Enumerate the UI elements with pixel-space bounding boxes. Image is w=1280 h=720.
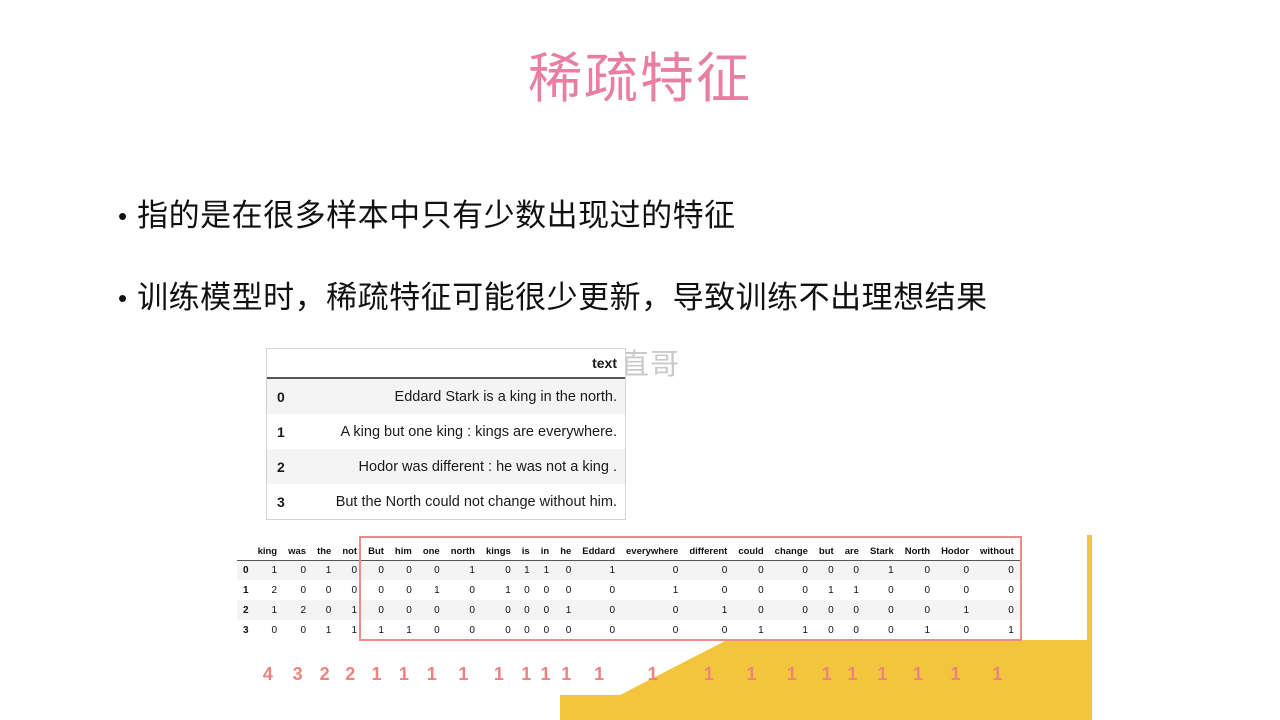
column-sum: 4 <box>253 660 284 688</box>
matrix-cell: 0 <box>536 620 555 640</box>
row-text: Eddard Stark is a king in the north. <box>299 389 625 405</box>
count-matrix-table: kingwasthenotButhimonenorthkingsisinheEd… <box>237 538 1020 640</box>
matrix-cell: 0 <box>283 580 312 600</box>
matrix-cell: 0 <box>733 580 769 600</box>
matrix-cell: 1 <box>253 600 284 620</box>
matrix-cell: 0 <box>446 600 481 620</box>
table-row: 3 But the North could not change without… <box>267 484 625 519</box>
matrix-cell: 0 <box>865 620 900 640</box>
row-text: But the North could not change without h… <box>299 494 625 510</box>
text-dataframe-header: text <box>267 349 625 379</box>
matrix-cell: 0 <box>418 600 446 620</box>
matrix-cell: 0 <box>733 560 769 580</box>
matrix-cell: 0 <box>517 620 536 640</box>
matrix-cell: 0 <box>363 600 390 620</box>
bullet-text: 训练模型时，稀疏特征可能很少更新，导致训练不出理想结果 <box>137 278 988 318</box>
matrix-cell: 0 <box>733 600 769 620</box>
matrix-cell: 0 <box>684 620 733 640</box>
page-title: 稀疏特征 <box>0 48 1280 110</box>
matrix-cell: 0 <box>536 600 555 620</box>
column-sums-table: 43221111111111111111111 <box>237 660 1020 688</box>
matrix-cell: 0 <box>975 580 1020 600</box>
matrix-cell: 1 <box>481 580 517 600</box>
row-index: 1 <box>237 580 253 600</box>
bullet-list: • 指的是在很多样本中只有少数出现过的特征 • 训练模型时，稀疏特征可能很少更新… <box>118 196 1218 360</box>
column-sum: 1 <box>555 660 577 688</box>
matrix-cell: 0 <box>390 580 418 600</box>
matrix-cell: 0 <box>312 600 337 620</box>
matrix-cell: 1 <box>770 620 814 640</box>
row-index: 0 <box>237 560 253 580</box>
matrix-cell: 0 <box>577 600 621 620</box>
matrix-cell: 0 <box>555 560 577 580</box>
matrix-cell: 0 <box>814 560 840 580</box>
column-header-one: one <box>418 538 446 560</box>
matrix-cell: 0 <box>975 560 1020 580</box>
column-header-not: not <box>337 538 363 560</box>
matrix-cell: 1 <box>684 600 733 620</box>
matrix-cell: 0 <box>312 580 337 600</box>
matrix-cell: 0 <box>481 560 517 580</box>
matrix-cell: 1 <box>253 560 284 580</box>
column-header-in: in <box>536 538 555 560</box>
matrix-cell: 0 <box>577 580 621 600</box>
matrix-cell: 2 <box>283 600 312 620</box>
row-text: A king but one king : kings are everywhe… <box>299 424 625 440</box>
matrix-cell: 1 <box>733 620 769 640</box>
column-header-is: is <box>517 538 536 560</box>
matrix-cell: 0 <box>536 580 555 600</box>
matrix-cell: 1 <box>936 600 975 620</box>
count-matrix: kingwasthenotButhimonenorthkingsisinheEd… <box>237 538 1020 640</box>
matrix-cell: 1 <box>840 580 865 600</box>
column-header-north: north <box>446 538 481 560</box>
column-sum: 1 <box>936 660 975 688</box>
row-index: 0 <box>267 389 299 405</box>
matrix-cell: 0 <box>865 580 900 600</box>
column-sum: 1 <box>684 660 733 688</box>
column-sum: 1 <box>770 660 814 688</box>
matrix-cell: 0 <box>621 560 684 580</box>
matrix-cell: 0 <box>684 560 733 580</box>
matrix-cell: 1 <box>390 620 418 640</box>
matrix-cell: 1 <box>865 560 900 580</box>
row-index: 3 <box>267 494 299 510</box>
column-sum: 1 <box>814 660 840 688</box>
matrix-cell: 0 <box>621 620 684 640</box>
row-index: 1 <box>267 424 299 440</box>
matrix-cell: 1 <box>975 620 1020 640</box>
slide-canvas: 稀疏特征 • 指的是在很多样本中只有少数出现过的特征 • 训练模型时，稀疏特征可… <box>0 0 1280 720</box>
matrix-cell: 1 <box>900 620 936 640</box>
matrix-cell: 0 <box>390 600 418 620</box>
column-sum: 3 <box>283 660 312 688</box>
matrix-cell: 0 <box>840 560 865 580</box>
matrix-cell: 0 <box>446 580 481 600</box>
matrix-cell: 0 <box>814 620 840 640</box>
matrix-cell: 1 <box>363 620 390 640</box>
table-row: 120000010100001000110000 <box>237 580 1020 600</box>
matrix-cell: 0 <box>337 580 363 600</box>
column-header-eddard: Eddard <box>577 538 621 560</box>
row-index: 2 <box>267 459 299 475</box>
column-sum: 1 <box>536 660 555 688</box>
table-row: 2 Hodor was different : he was not a kin… <box>267 449 625 484</box>
matrix-cell: 0 <box>814 600 840 620</box>
column-header-but: But <box>363 538 390 560</box>
column-sum: 1 <box>363 660 390 688</box>
column-header-north: North <box>900 538 936 560</box>
matrix-cell: 0 <box>253 620 284 640</box>
matrix-cell: 1 <box>536 560 555 580</box>
column-header-stark: Stark <box>865 538 900 560</box>
table-row: 43221111111111111111111 <box>237 660 1020 688</box>
matrix-cell: 2 <box>253 580 284 600</box>
column-sum: 1 <box>865 660 900 688</box>
index-column-header <box>237 538 253 560</box>
matrix-cell: 0 <box>517 580 536 600</box>
column-sum: 1 <box>390 660 418 688</box>
column-header-change: change <box>770 538 814 560</box>
matrix-cell: 1 <box>337 620 363 640</box>
column-sums-row: 43221111111111111111111 <box>237 660 1020 688</box>
matrix-cell: 1 <box>312 620 337 640</box>
column-header-different: different <box>684 538 733 560</box>
column-header-the: the <box>312 538 337 560</box>
matrix-cell: 0 <box>975 600 1020 620</box>
matrix-cell: 0 <box>418 620 446 640</box>
column-sum: 1 <box>900 660 936 688</box>
matrix-cell: 0 <box>577 620 621 640</box>
matrix-cell: 0 <box>770 560 814 580</box>
matrix-cell: 1 <box>555 600 577 620</box>
matrix-cell: 0 <box>900 560 936 580</box>
table-row: 212010000000100100000010 <box>237 600 1020 620</box>
matrix-cell: 0 <box>840 620 865 640</box>
matrix-cell: 0 <box>770 580 814 600</box>
count-matrix-body: 0101000010110100000010001200000101000010… <box>237 560 1020 640</box>
matrix-cell: 1 <box>337 600 363 620</box>
text-dataframe: text 0 Eddard Stark is a king in the nor… <box>266 348 626 520</box>
column-sum: 1 <box>517 660 536 688</box>
column-header-king: king <box>253 538 284 560</box>
matrix-cell: 0 <box>337 560 363 580</box>
matrix-cell: 0 <box>517 600 536 620</box>
column-header-without: without <box>975 538 1020 560</box>
list-item: • 训练模型时，稀疏特征可能很少更新，导致训练不出理想结果 <box>118 278 1218 318</box>
matrix-cell: 0 <box>936 580 975 600</box>
column-sum: 1 <box>481 660 517 688</box>
matrix-cell: 0 <box>390 560 418 580</box>
matrix-cell: 0 <box>684 580 733 600</box>
column-sum: 1 <box>446 660 481 688</box>
matrix-cell: 1 <box>446 560 481 580</box>
matrix-cell: 0 <box>481 600 517 620</box>
bullet-dot-icon: • <box>118 278 127 318</box>
matrix-cell: 0 <box>481 620 517 640</box>
column-sum: 1 <box>733 660 769 688</box>
column-header-text: text <box>592 355 617 371</box>
count-matrix-head: kingwasthenotButhimonenorthkingsisinheEd… <box>237 538 1020 560</box>
matrix-cell: 1 <box>577 560 621 580</box>
table-row: 300111100000000011000101 <box>237 620 1020 640</box>
matrix-cell: 0 <box>283 560 312 580</box>
matrix-cell: 1 <box>312 560 337 580</box>
column-header-everywhere: everywhere <box>621 538 684 560</box>
matrix-cell: 0 <box>770 600 814 620</box>
column-header-he: he <box>555 538 577 560</box>
matrix-cell: 1 <box>621 580 684 600</box>
column-sum: 1 <box>840 660 865 688</box>
column-sum: 1 <box>621 660 684 688</box>
matrix-cell: 1 <box>814 580 840 600</box>
list-item: • 指的是在很多样本中只有少数出现过的特征 <box>118 196 1218 236</box>
table-header-row: kingwasthenotButhimonenorthkingsisinheEd… <box>237 538 1020 560</box>
row-text: Hodor was different : he was not a king … <box>299 459 625 475</box>
matrix-cell: 0 <box>418 560 446 580</box>
column-sum: 2 <box>312 660 337 688</box>
sums-row-index <box>237 660 253 688</box>
column-sum: 1 <box>975 660 1020 688</box>
matrix-cell: 0 <box>936 560 975 580</box>
column-header-could: could <box>733 538 769 560</box>
row-index: 2 <box>237 600 253 620</box>
matrix-cell: 0 <box>900 600 936 620</box>
matrix-cell: 0 <box>840 600 865 620</box>
column-header-hodor: Hodor <box>936 538 975 560</box>
column-header-was: was <box>283 538 312 560</box>
table-row: 010100001011010000001000 <box>237 560 1020 580</box>
matrix-cell: 0 <box>865 600 900 620</box>
matrix-cell: 0 <box>283 620 312 640</box>
matrix-cell: 1 <box>418 580 446 600</box>
matrix-cell: 0 <box>621 600 684 620</box>
matrix-cell: 0 <box>555 620 577 640</box>
bullet-text: 指的是在很多样本中只有少数出现过的特征 <box>137 196 736 236</box>
table-row: 1 A king but one king : kings are everyw… <box>267 414 625 449</box>
matrix-cell: 0 <box>900 580 936 600</box>
column-header-are: are <box>840 538 865 560</box>
column-header-but: but <box>814 538 840 560</box>
table-row: 0 Eddard Stark is a king in the north. <box>267 379 625 414</box>
matrix-cell: 0 <box>446 620 481 640</box>
row-index: 3 <box>237 620 253 640</box>
matrix-cell: 1 <box>517 560 536 580</box>
column-sum: 2 <box>337 660 363 688</box>
column-header-kings: kings <box>481 538 517 560</box>
column-sum: 1 <box>418 660 446 688</box>
column-header-him: him <box>390 538 418 560</box>
column-sum: 1 <box>577 660 621 688</box>
matrix-cell: 0 <box>936 620 975 640</box>
bullet-dot-icon: • <box>118 196 127 236</box>
matrix-cell: 0 <box>555 580 577 600</box>
matrix-cell: 0 <box>363 580 390 600</box>
matrix-cell: 0 <box>363 560 390 580</box>
